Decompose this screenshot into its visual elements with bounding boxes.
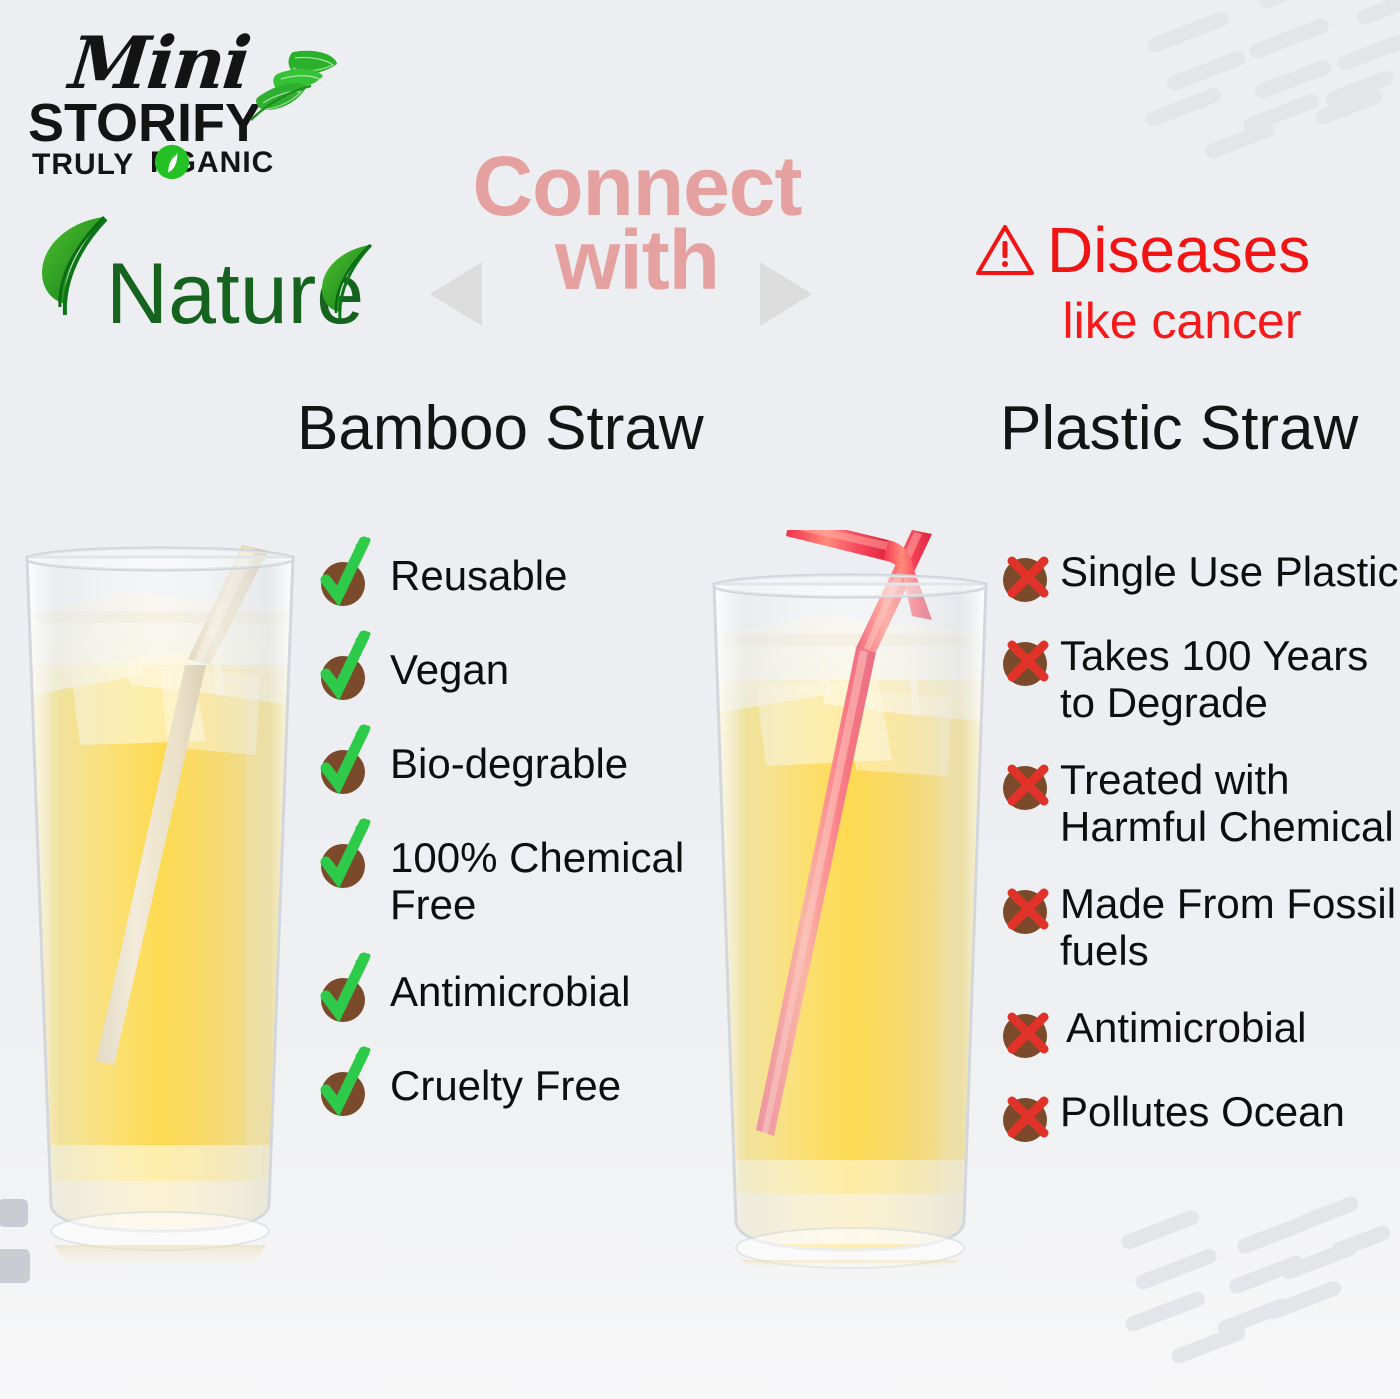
list-item-label: Treated with Harmful Chemical bbox=[1060, 756, 1400, 850]
cross-mark-icon bbox=[1000, 552, 1050, 602]
list-item: Bio-degrable bbox=[318, 740, 708, 794]
diseases-banner: Diseases like cancer bbox=[975, 218, 1395, 346]
bamboo-straw-glass bbox=[10, 545, 310, 1265]
plastic-straw-glass bbox=[700, 530, 1000, 1270]
check-mark-icon bbox=[318, 1066, 368, 1116]
nature-banner: Nature bbox=[18, 205, 388, 350]
list-item-label: Pollutes Ocean bbox=[1060, 1088, 1345, 1135]
cross-mark-icon bbox=[1000, 1092, 1050, 1142]
diseases-label: Diseases bbox=[1047, 218, 1310, 282]
check-mark-icon bbox=[318, 650, 368, 700]
bamboo-feature-list: Reusable Vegan Bio-degrable bbox=[318, 552, 708, 1156]
triangle-right-icon bbox=[760, 262, 812, 326]
triangle-left-icon bbox=[430, 262, 482, 326]
list-item: Pollutes Ocean bbox=[1000, 1088, 1400, 1142]
plastic-straw-title: Plastic Straw bbox=[1000, 398, 1358, 460]
list-item-label: Reusable bbox=[390, 552, 567, 599]
warning-triangle-icon bbox=[975, 223, 1035, 277]
brand-logo-storify: STORIFY bbox=[28, 92, 261, 154]
check-mark-icon bbox=[318, 838, 368, 888]
check-mark-icon bbox=[318, 556, 368, 606]
list-item-label: Antimicrobial bbox=[1066, 1004, 1306, 1051]
list-item: Made From Fossil fuels bbox=[1000, 880, 1400, 974]
list-item: Vegan bbox=[318, 646, 708, 700]
list-item-label: Antimicrobial bbox=[390, 968, 630, 1015]
list-item: Treated with Harmful Chemical bbox=[1000, 756, 1400, 850]
list-item-label: Vegan bbox=[390, 646, 509, 693]
leaf-badge-icon bbox=[154, 144, 190, 180]
infographic-canvas: Mini STORIFY TRULY RGANIC bbox=[0, 0, 1400, 1399]
bamboo-straw-title: Bamboo Straw bbox=[297, 398, 704, 460]
list-item: Single Use Plastic bbox=[1000, 548, 1400, 602]
list-item-label: Made From Fossil fuels bbox=[1060, 880, 1400, 974]
leaf-icon bbox=[318, 241, 384, 323]
list-item: Antimicrobial bbox=[1000, 1004, 1400, 1058]
decorative-dashes-bottom-right bbox=[1110, 1215, 1400, 1399]
list-item-label: 100% Chemical Free bbox=[390, 834, 708, 928]
plastic-feature-list: Single Use Plastic Takes 100 Years to De… bbox=[1000, 548, 1400, 1172]
list-item-label: Takes 100 Years to Degrade bbox=[1060, 632, 1400, 726]
double-leaf-icon bbox=[247, 46, 339, 124]
check-mark-icon bbox=[318, 972, 368, 1022]
brand-logo: Mini STORIFY TRULY RGANIC bbox=[22, 18, 322, 180]
list-item-label: Cruelty Free bbox=[390, 1062, 621, 1109]
brand-logo-truly: TRULY bbox=[32, 148, 134, 182]
like-cancer-label: like cancer bbox=[975, 296, 1395, 346]
list-item: Reusable bbox=[318, 552, 708, 606]
decorative-dashes-top-right bbox=[1110, 0, 1400, 190]
cross-mark-icon bbox=[1000, 760, 1050, 810]
cross-mark-icon bbox=[1000, 1008, 1050, 1058]
cross-mark-icon bbox=[1000, 636, 1050, 686]
list-item-label: Bio-degrable bbox=[390, 740, 628, 787]
check-mark-icon bbox=[318, 744, 368, 794]
list-item: Cruelty Free bbox=[318, 1062, 708, 1116]
cross-mark-icon bbox=[1000, 884, 1050, 934]
list-item: 100% Chemical Free bbox=[318, 834, 708, 928]
list-item: Takes 100 Years to Degrade bbox=[1000, 632, 1400, 726]
list-item-label: Single Use Plastic bbox=[1060, 548, 1398, 595]
list-item: Antimicrobial bbox=[318, 968, 708, 1022]
